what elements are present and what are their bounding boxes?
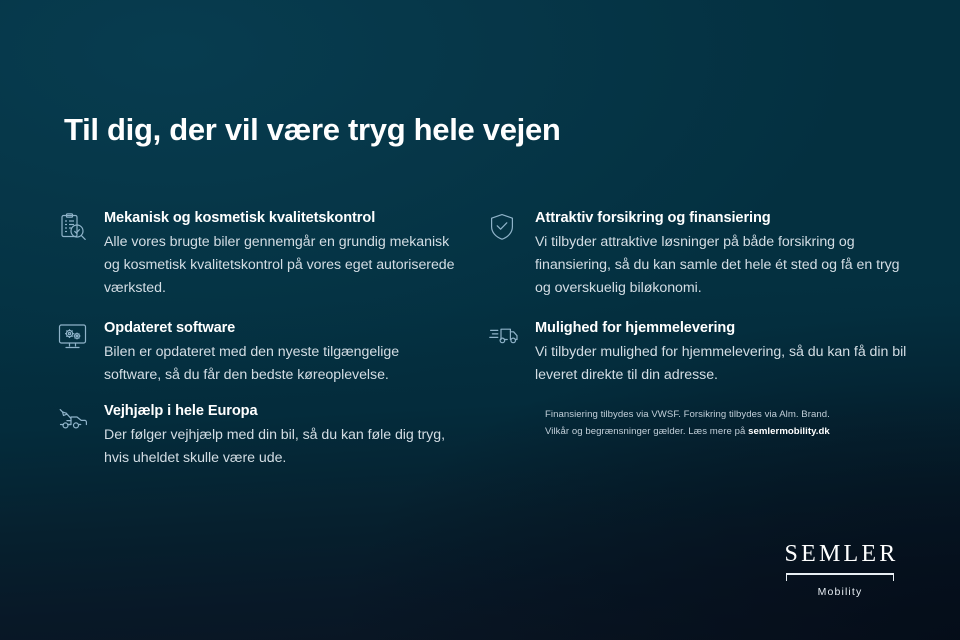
delivery-truck-icon — [489, 320, 535, 347]
feature-title: Attraktiv forsikring og finansiering — [535, 210, 909, 226]
feature-quality-control: Mekanisk og kosmetisk kvalitetskontrol A… — [58, 210, 458, 300]
legal-line-2-text: Vilkår og begrænsninger gælder. Læs mere… — [545, 426, 748, 437]
logo-wordmark: SEMLER — [778, 542, 902, 566]
feature-roadside-assistance: Vejhjælp i hele Europa Der følger vejhjæ… — [58, 403, 458, 470]
feature-updated-software: Opdateret software Bilen er opdateret me… — [58, 320, 458, 387]
feature-insurance-financing: Attraktiv forsikring og finansiering Vi … — [489, 210, 909, 300]
feature-title: Mekanisk og kosmetisk kvalitetskontrol — [104, 210, 458, 226]
page-title: Til dig, der vil være tryg hele vejen — [64, 112, 561, 148]
legal-line-2: Vilkår og begrænsninger gælder. Læs mere… — [545, 424, 945, 441]
logo-divider-rule — [786, 573, 894, 582]
slide-background: Til dig, der vil være tryg hele vejen Me… — [0, 0, 960, 640]
feature-body: Alle vores brugte biler gennemgår en gru… — [104, 231, 458, 300]
legal-line-1: Finansiering tilbydes via VWSF. Forsikri… — [545, 407, 945, 424]
feature-body: Vi tilbyder mulighed for hjemmelevering,… — [535, 341, 909, 387]
feature-home-delivery: Mulighed for hjemmelevering Vi tilbyder … — [489, 320, 909, 387]
feature-body: Der følger vejhjælp med din bil, så du k… — [104, 424, 458, 470]
semler-mobility-logo: SEMLER Mobility — [778, 542, 902, 598]
feature-title: Vejhjælp i hele Europa — [104, 403, 458, 419]
shield-check-icon — [489, 210, 535, 241]
logo-subtitle: Mobility — [778, 586, 902, 598]
monitor-gears-icon — [58, 320, 104, 351]
tow-truck-icon — [58, 403, 104, 432]
legal-disclaimer: Finansiering tilbydes via VWSF. Forsikri… — [545, 407, 945, 440]
feature-title: Mulighed for hjemmelevering — [535, 320, 909, 336]
clipboard-magnifier-icon — [58, 210, 104, 243]
feature-body: Vi tilbyder attraktive løsninger på både… — [535, 231, 909, 300]
feature-title: Opdateret software — [104, 320, 458, 336]
semlermobility-link[interactable]: semlermobility.dk — [748, 426, 830, 437]
feature-body: Bilen er opdateret med den nyeste tilgæn… — [104, 341, 458, 387]
